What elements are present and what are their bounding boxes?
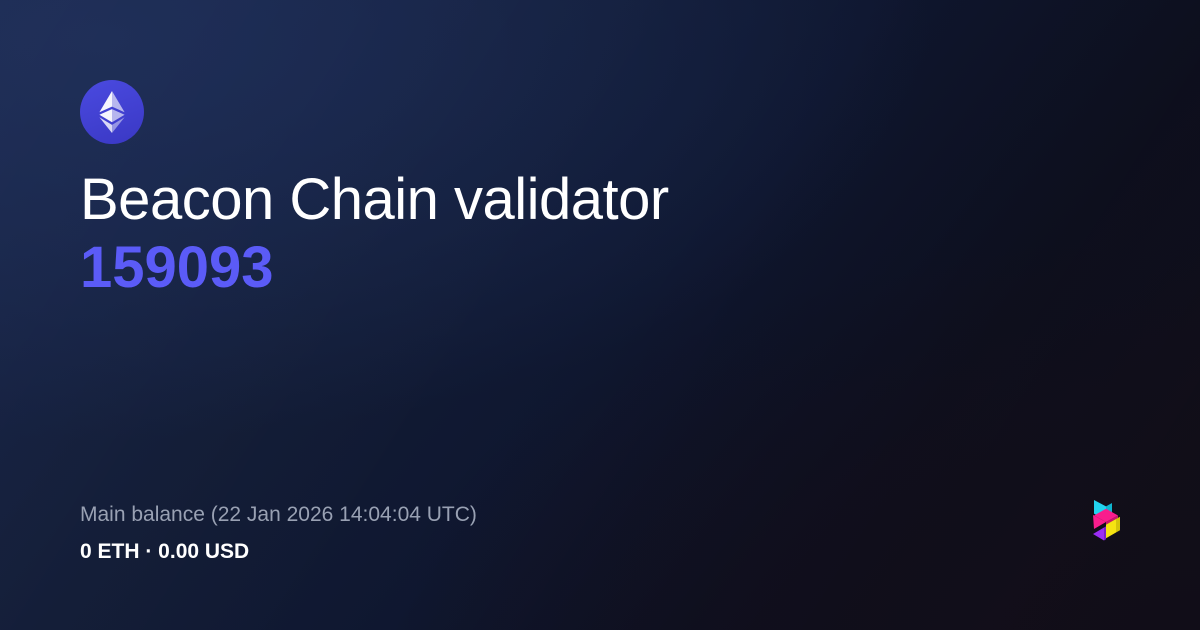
og-card: Beacon Chain validator 159093 Main balan… (0, 0, 1200, 630)
validator-index: 159093 (80, 234, 1060, 302)
main-balance-label: Main balance (22 Jan 2026 14:04:04 UTC) (80, 500, 1120, 530)
page-title: Beacon Chain validator 159093 (80, 166, 1060, 302)
main-balance-value: 0 ETH · 0.00 USD (80, 538, 1120, 566)
ethereum-badge (80, 80, 144, 144)
beaconcha-in-logo (1082, 498, 1126, 552)
ethereum-diamond-icon (99, 91, 125, 133)
page-title-text: Beacon Chain validator (80, 167, 669, 232)
main-balance-block: Main balance (22 Jan 2026 14:04:04 UTC) … (80, 500, 1120, 566)
layout-spacer (80, 302, 1120, 500)
card-content: Beacon Chain validator 159093 Main balan… (0, 0, 1200, 630)
